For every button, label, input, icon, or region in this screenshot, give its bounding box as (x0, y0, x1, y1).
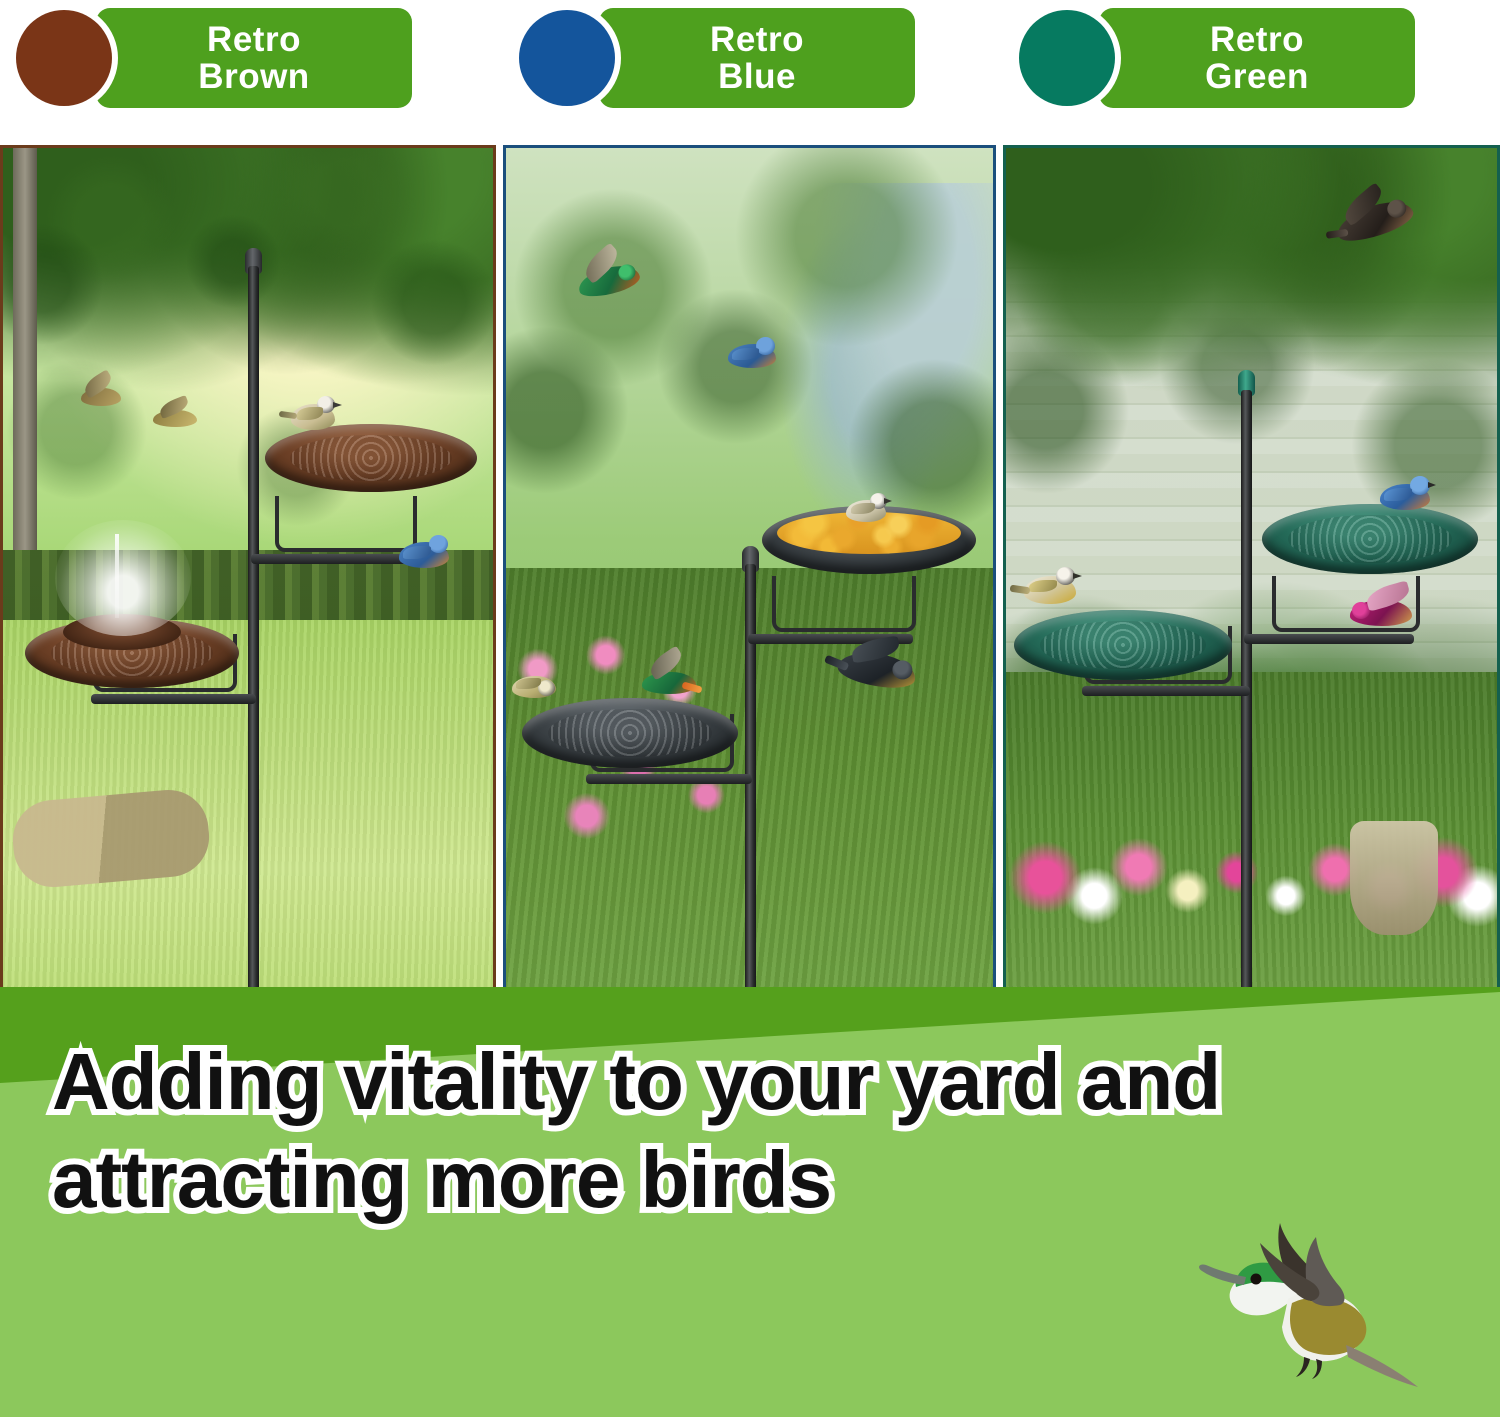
product-photo-retro-green[interactable] (1003, 145, 1500, 1025)
bird-finch (291, 404, 335, 430)
bird-bath-bowl-upper[interactable] (265, 424, 477, 492)
support-arm-lower (91, 694, 256, 704)
color-variant-badge-row: Retro Brown Retro Blue Retro Green (0, 0, 1500, 130)
support-arm-lower (586, 774, 752, 784)
color-swatch-green[interactable] (1013, 4, 1121, 112)
badge-label-line2: Blue (718, 58, 796, 95)
scene-house-flowerbed (1006, 148, 1497, 1022)
fountain-jet (115, 534, 119, 618)
badge-label-line1: Retro (207, 21, 301, 58)
bird-bath-stand-green (1006, 148, 1497, 1022)
scene-backyard-fence (3, 148, 493, 1022)
support-arm-upper (251, 554, 411, 564)
support-arm-lower (1082, 686, 1250, 696)
bird-bath-stand-brown (3, 148, 493, 1022)
tagline-line-1: Adding vitality to your yard and (52, 1033, 1452, 1131)
bird-hummingbird-green (642, 672, 696, 694)
hummingbird-mascot-icon (1150, 1195, 1480, 1405)
fountain-water-spray (55, 520, 191, 636)
color-swatch-blue[interactable] (513, 4, 621, 112)
center-pole (248, 266, 259, 1022)
support-arm-upper (1244, 634, 1414, 644)
scene-flower-garden (506, 148, 993, 1022)
badge-label: Retro Blue (599, 8, 915, 108)
center-pole (1241, 390, 1252, 1022)
bird-hummingbird-1 (81, 388, 121, 406)
badge-label: Retro Brown (96, 8, 412, 108)
bird-bath-bowl-upper[interactable] (1262, 504, 1478, 574)
badge-label-line1: Retro (1210, 21, 1304, 58)
bowl-cradle-upper (275, 496, 417, 552)
bowl-cradle-upper (772, 576, 916, 632)
bird-chickadee (846, 500, 886, 522)
bird-goldfinch (512, 676, 556, 698)
product-photo-retro-blue[interactable] (503, 145, 996, 1025)
bird-bluebird-perched (728, 344, 776, 368)
badge-label-line1: Retro (710, 21, 804, 58)
product-photo-panels (0, 145, 1500, 1025)
badge-label: Retro Green (1099, 8, 1415, 108)
bird-bluebird (399, 542, 449, 568)
badge-label-line2: Brown (198, 58, 309, 95)
center-pole (745, 564, 756, 1022)
bird-bath-bowl-lower[interactable] (522, 698, 738, 768)
badge-label-line2: Green (1205, 58, 1309, 95)
product-photo-retro-brown[interactable] (0, 145, 496, 1025)
bird-hummingbird-magenta (1350, 600, 1412, 626)
bird-hummingbird-2 (153, 410, 197, 427)
bird-finch (1024, 576, 1076, 604)
color-swatch-brown[interactable] (10, 4, 118, 112)
bird-bluebird (1380, 484, 1430, 510)
bird-bath-bowl-lower[interactable] (1014, 610, 1232, 680)
